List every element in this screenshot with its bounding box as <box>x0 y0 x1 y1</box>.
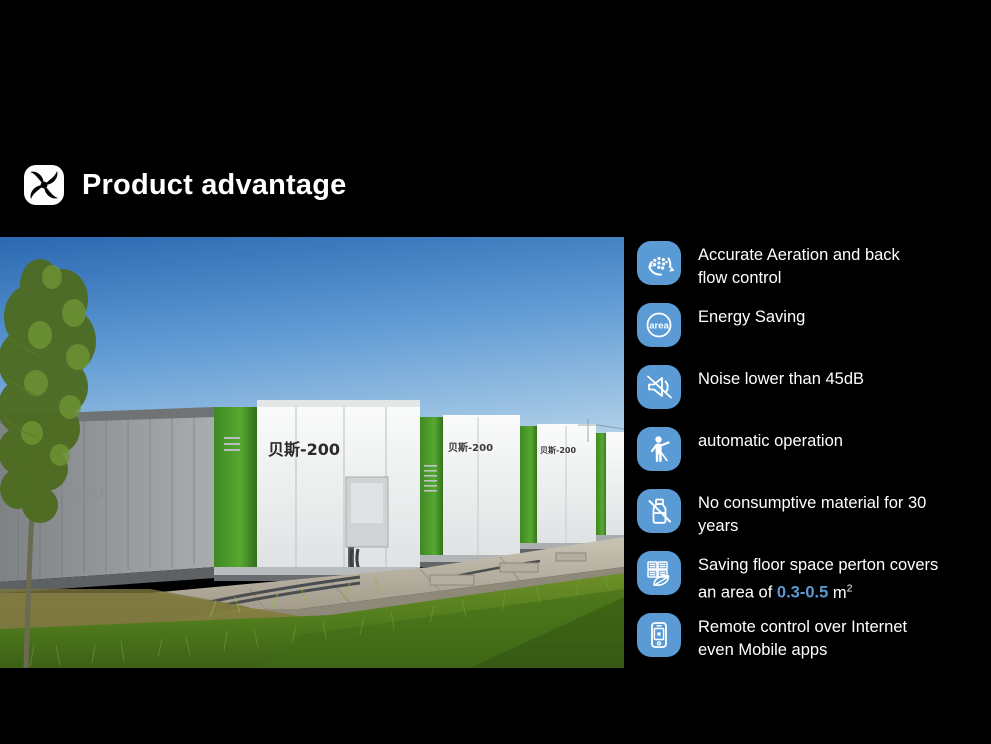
no-consumable-bottle-icon <box>637 489 681 533</box>
svg-text:area: area <box>649 321 669 332</box>
list-item-label: Energy Saving <box>698 303 805 329</box>
list-item: Remote control over Internet even Mobile… <box>637 613 977 675</box>
list-item-label: Accurate Aeration and back flow control <box>698 241 900 290</box>
list-item: Saving floor space perton covers an area… <box>637 551 977 613</box>
list-item: automatic operation <box>637 427 977 489</box>
list-item-label: automatic operation <box>698 427 843 453</box>
person-operation-icon <box>637 427 681 471</box>
muted-speaker-icon <box>637 365 681 409</box>
svg-text:贝斯-200: 贝斯-200 <box>448 441 493 454</box>
area-circle-icon: area <box>637 303 681 347</box>
list-item: Noise lower than 45dB <box>637 365 977 427</box>
svg-text:贝斯-200: 贝斯-200 <box>268 440 340 459</box>
stacked-blocks-leaf-icon <box>637 551 681 595</box>
advantages-list: Accurate Aeration and back flow control … <box>637 241 977 675</box>
list-item: area Energy Saving <box>637 303 977 365</box>
list-item-label: Noise lower than 45dB <box>698 365 864 391</box>
swirl-pinwheel-logo-icon <box>22 163 66 207</box>
list-item-label: Remote control over Internet even Mobile… <box>698 613 907 662</box>
page-header: Product advantage <box>22 163 346 207</box>
list-item-label: No consumptive material for 30 years <box>698 489 926 538</box>
product-photo: YESU 贝斯-200 <box>0 237 624 668</box>
svg-text:YESU: YESU <box>57 482 104 503</box>
mobile-phone-icon <box>637 613 681 657</box>
aeration-flow-icon <box>637 241 681 285</box>
list-item: No consumptive material for 30 years <box>637 489 977 551</box>
list-item: Accurate Aeration and back flow control <box>637 241 977 303</box>
svg-text:贝斯-200: 贝斯-200 <box>540 445 576 455</box>
area-value: 0.3-0.5 <box>777 584 828 602</box>
list-item-label: Saving floor space perton covers an area… <box>698 551 938 605</box>
page-title: Product advantage <box>82 171 346 200</box>
